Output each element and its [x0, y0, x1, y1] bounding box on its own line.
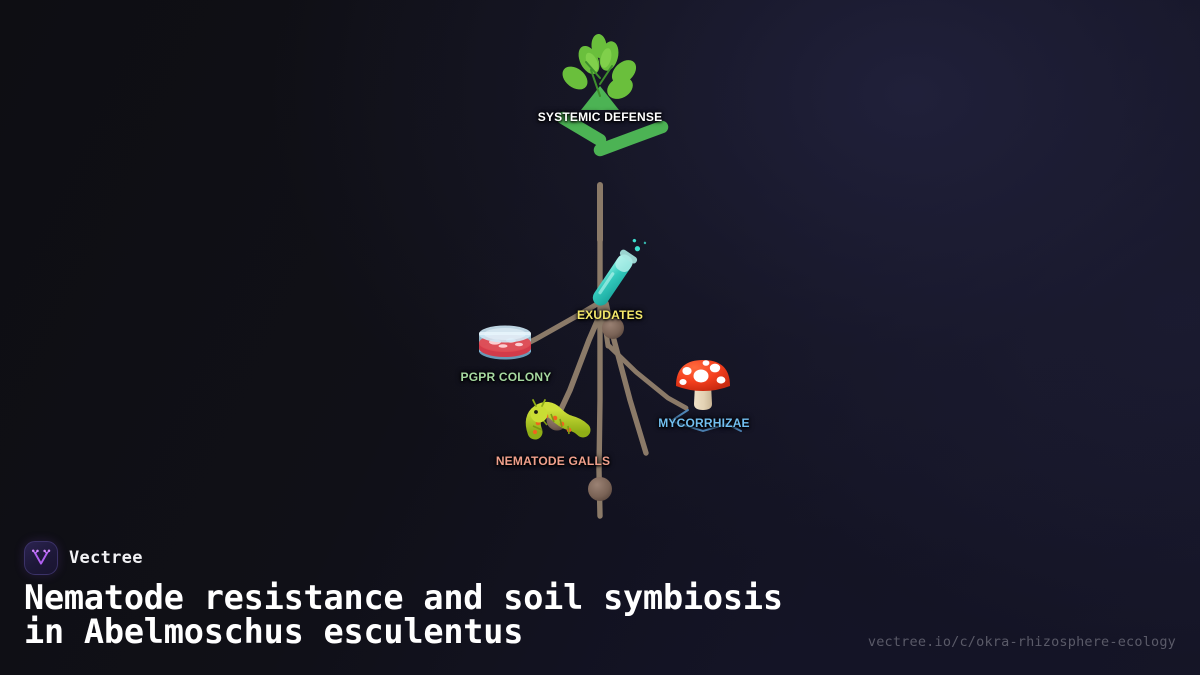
- page-title-line-2: in Abelmoschus esculentus: [24, 615, 783, 649]
- root-gall-node: [588, 477, 612, 501]
- petri-dish-icon: [479, 326, 531, 360]
- vectree-v-tree-icon: [24, 541, 58, 575]
- brand-name: Vectree: [69, 548, 143, 568]
- brand: Vectree: [24, 541, 143, 575]
- node-label-mycorrhizae[interactable]: MYCORRHIZAE: [658, 416, 750, 430]
- node-label-nematode-galls[interactable]: NEMATODE GALLS: [496, 454, 610, 468]
- poster-canvas: SYSTEMIC DEFENSE EXUDATES PGPR COLONY NE…: [0, 0, 1200, 675]
- plant-sprout-icon: [558, 34, 662, 240]
- node-label-exudates[interactable]: EXUDATES: [577, 308, 643, 322]
- node-label-pgpr-colony[interactable]: PGPR COLONY: [461, 370, 552, 384]
- source-url: vectree.io/c/okra-rhizosphere-ecology: [868, 634, 1176, 650]
- node-label-systemic-defense[interactable]: SYSTEMIC DEFENSE: [538, 110, 663, 124]
- mushroom-icon: [676, 360, 730, 410]
- footer: Vectree Nematode resistance and soil sym…: [0, 535, 1200, 675]
- page-title-line-1: Nematode resistance and soil symbiosis: [24, 581, 783, 615]
- page-title: Nematode resistance and soil symbiosis i…: [24, 581, 783, 648]
